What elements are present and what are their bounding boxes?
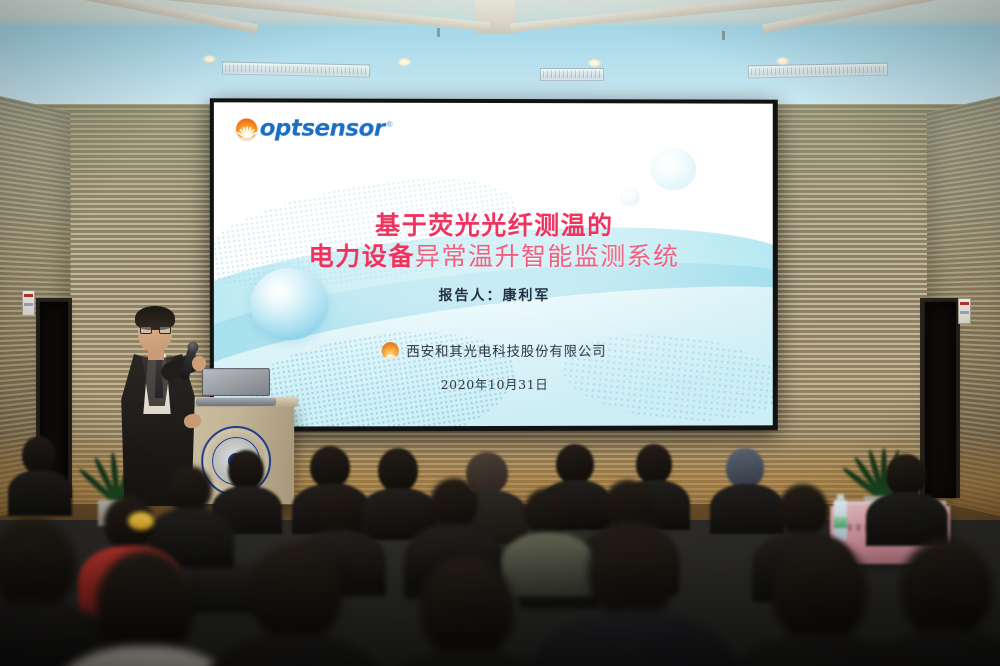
- logo-registered-mark: ®: [387, 119, 393, 128]
- slide-title-line-2-soft: 异常温升智能监测系统: [415, 242, 680, 271]
- company-sunburst-icon: [382, 342, 399, 359]
- left-wall-sign-line: [24, 303, 33, 306]
- hair-clip-yellow: [128, 512, 154, 530]
- ceiling: [0, 0, 1000, 112]
- slide-title-line-2-strong: 电力设备: [309, 242, 415, 271]
- projection-screen[interactable]: optsensor ® 基于荧光光纤测温的 电力设备异常温升智能监测系统 报告人…: [210, 98, 778, 431]
- slide-logo: optsensor ®: [236, 117, 392, 140]
- slide-presenter: 报告人：康利军: [214, 285, 773, 305]
- logo-core: [240, 134, 253, 139]
- slide-title-line-2: 电力设备异常温升智能监测系统: [214, 241, 773, 272]
- ac-vent-left: [222, 61, 370, 77]
- presenter-hand-on-mic: [192, 356, 206, 371]
- slide-title-block: 基于荧光光纤测温的 电力设备异常温升智能监测系统: [214, 209, 773, 272]
- slide-date: 2020年10月31日: [214, 374, 773, 394]
- right-wall-sign-line: [960, 311, 969, 314]
- right-wall-sign-marker: [960, 302, 969, 305]
- downlight-2: [398, 58, 411, 66]
- slide-title-line-1: 基于荧光光纤测温的: [214, 209, 773, 241]
- slide-bubble-small: [620, 187, 640, 206]
- downlight-1: [203, 55, 216, 63]
- ac-vent-right: [748, 63, 888, 79]
- slide-bubble-large: [651, 148, 697, 190]
- sunburst-logo-icon: [236, 118, 257, 139]
- sprinkler-head-left: [437, 28, 440, 37]
- downlight-4: [776, 57, 789, 65]
- presenter-glasses: [140, 326, 171, 334]
- audience: [0, 400, 1000, 666]
- presentation-slide: optsensor ® 基于荧光光纤测温的 电力设备异常温升智能监测系统 报告人…: [214, 102, 773, 426]
- left-wall-sign-marker: [24, 294, 33, 297]
- conference-photo-scene: optsensor ® 基于荧光光纤测温的 电力设备异常温升智能监测系统 报告人…: [0, 0, 1000, 666]
- slide-company-row: 西安和其光电科技股份有限公司: [214, 340, 773, 361]
- downlight-3: [588, 59, 601, 67]
- logo-wordmark: optsensor: [260, 117, 385, 140]
- right-wall-sign: [958, 298, 971, 324]
- ac-vent-center: [540, 68, 604, 81]
- sprinkler-head-right: [722, 31, 725, 40]
- left-wall-sign: [22, 290, 35, 316]
- slide-company-name: 西安和其光电科技股份有限公司: [406, 340, 606, 360]
- laptop-screen: [202, 368, 270, 396]
